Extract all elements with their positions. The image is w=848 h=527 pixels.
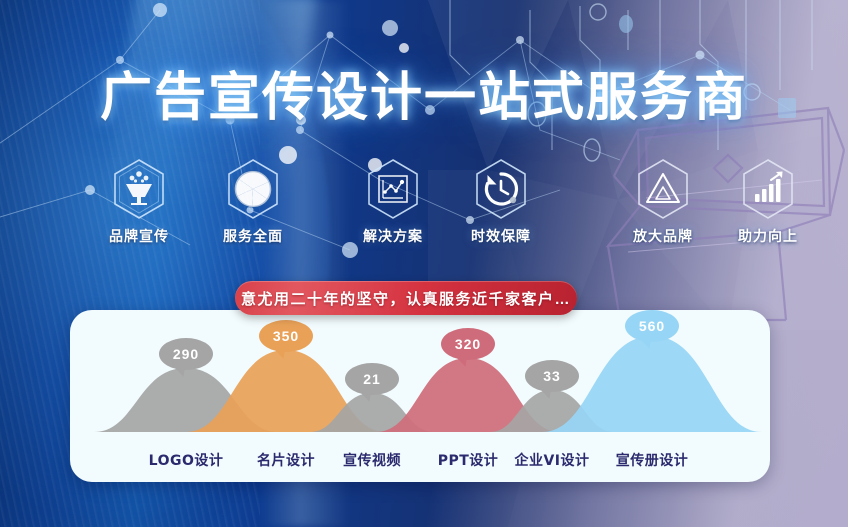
value-bubble: 560 xyxy=(625,310,679,342)
value-bubble-text: 350 xyxy=(273,329,299,343)
bubble-tail xyxy=(273,347,287,360)
feature-item-brand-promotion[interactable]: 品牌宣传 xyxy=(96,158,182,246)
value-bubble-text: 290 xyxy=(173,347,199,361)
bubble-tail xyxy=(359,390,373,403)
feature-label: 放大品牌 xyxy=(620,226,706,246)
value-bubble-text: 560 xyxy=(639,319,665,333)
feature-label: 品牌宣传 xyxy=(96,226,182,246)
feature-item-amplify-brand[interactable]: 放大品牌 xyxy=(620,158,706,246)
value-bubble: 21 xyxy=(345,363,399,395)
value-bubble-text: 33 xyxy=(543,369,561,383)
bubble-tail xyxy=(173,365,187,378)
category-label: LOGO设计 xyxy=(149,450,224,470)
bubble-tail xyxy=(639,337,653,350)
clock-rotate-icon xyxy=(473,158,529,220)
headline-title: 广告宣传设计一站式服务商 xyxy=(0,55,848,130)
category-label: 宣传册设计 xyxy=(616,450,689,470)
feature-item-full-service[interactable]: 服务全面 xyxy=(210,158,296,246)
circuit-network xyxy=(0,0,848,300)
feature-label: 时效保障 xyxy=(458,226,544,246)
feature-label: 服务全面 xyxy=(210,226,296,246)
category-label-row: LOGO设计名片设计宣传视频PPT设计企业VI设计宣传册设计 xyxy=(70,450,770,474)
feature-item-solution[interactable]: 解决方案 xyxy=(350,158,436,246)
value-bubble: 320 xyxy=(441,328,495,360)
promo-pill: 意尤用二十年的坚守，认真服务近千家客户… xyxy=(235,281,577,315)
feature-label: 解决方案 xyxy=(350,226,436,246)
category-label: 名片设计 xyxy=(257,450,315,470)
line-chart-icon xyxy=(365,158,421,220)
feature-item-timeliness[interactable]: 时效保障 xyxy=(458,158,544,246)
triangle-icon xyxy=(635,158,691,220)
bubble-tail xyxy=(539,387,553,400)
category-label: PPT设计 xyxy=(438,450,499,470)
value-bubble: 350 xyxy=(259,320,313,352)
feature-item-boost-growth[interactable]: 助力向上 xyxy=(725,158,811,246)
feature-icon-row: 品牌宣传 服务全面 xyxy=(60,158,788,248)
value-bubble-group: 2903502132033560 xyxy=(70,310,770,450)
value-bubble: 290 xyxy=(159,338,213,370)
bubble-tail xyxy=(455,355,469,368)
value-bubble-text: 21 xyxy=(363,372,381,386)
value-bubble: 33 xyxy=(525,360,579,392)
category-label: 企业VI设计 xyxy=(514,450,589,470)
category-label: 宣传视频 xyxy=(343,450,401,470)
value-bubble-text: 320 xyxy=(455,337,481,351)
bar-growth-icon xyxy=(740,158,796,220)
aperture-icon xyxy=(225,158,281,220)
megaphone-icon xyxy=(111,158,167,220)
statistics-card: 2903502132033560 LOGO设计名片设计宣传视频PPT设计企业VI… xyxy=(70,310,770,482)
promo-pill-text: 意尤用二十年的坚守，认真服务近千家客户… xyxy=(241,288,571,309)
feature-label: 助力向上 xyxy=(725,226,811,246)
promo-banner-image: 广告宣传设计一站式服务商 xyxy=(0,0,848,527)
